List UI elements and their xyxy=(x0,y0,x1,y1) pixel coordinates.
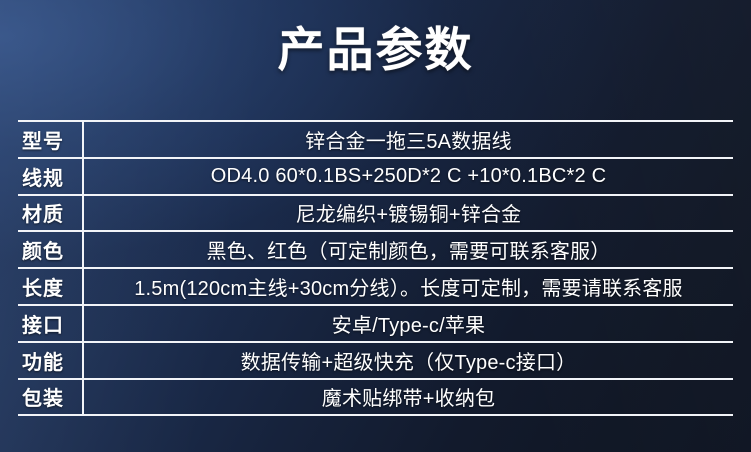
spec-value-interface: 安卓/Type-c/苹果 xyxy=(83,305,733,342)
spec-table: 型号 锌合金一拖三5A数据线 线规 OD4.0 60*0.1BS+250D*2 … xyxy=(18,120,733,416)
spec-label-wire-gauge: 线规 xyxy=(18,158,83,195)
page-title: 产品参数 xyxy=(0,22,751,78)
table-row: 接口 安卓/Type-c/苹果 xyxy=(18,305,733,342)
spec-value-packaging: 魔术贴绑带+收纳包 xyxy=(83,379,733,416)
spec-value-color: 黑色、红色（可定制颜色，需要可联系客服） xyxy=(83,231,733,268)
spec-label-material: 材质 xyxy=(18,195,83,232)
spec-label-model: 型号 xyxy=(18,121,83,158)
spec-value-wire-gauge: OD4.0 60*0.1BS+250D*2 C +10*0.1BC*2 C xyxy=(83,158,733,195)
table-row: 包装 魔术贴绑带+收纳包 xyxy=(18,379,733,416)
product-spec-page: 产品参数 型号 锌合金一拖三5A数据线 线规 OD4.0 60*0.1BS+25… xyxy=(0,0,751,452)
spec-label-interface: 接口 xyxy=(18,305,83,342)
table-row: 长度 1.5m(120cm主线+30cm分线）。长度可定制，需要请联系客服 xyxy=(18,268,733,305)
spec-label-function: 功能 xyxy=(18,342,83,379)
spec-label-color: 颜色 xyxy=(18,231,83,268)
spec-label-length: 长度 xyxy=(18,268,83,305)
table-row: 功能 数据传输+超级快充（仅Type-c接口） xyxy=(18,342,733,379)
spec-table-body: 型号 锌合金一拖三5A数据线 线规 OD4.0 60*0.1BS+250D*2 … xyxy=(18,121,733,415)
table-row: 颜色 黑色、红色（可定制颜色，需要可联系客服） xyxy=(18,231,733,268)
table-row: 线规 OD4.0 60*0.1BS+250D*2 C +10*0.1BC*2 C xyxy=(18,158,733,195)
table-row: 型号 锌合金一拖三5A数据线 xyxy=(18,121,733,158)
spec-value-length: 1.5m(120cm主线+30cm分线）。长度可定制，需要请联系客服 xyxy=(83,268,733,305)
spec-label-packaging: 包装 xyxy=(18,379,83,416)
table-row: 材质 尼龙编织+镀锡铜+锌合金 xyxy=(18,195,733,232)
spec-value-material: 尼龙编织+镀锡铜+锌合金 xyxy=(83,195,733,232)
spec-value-function: 数据传输+超级快充（仅Type-c接口） xyxy=(83,342,733,379)
spec-value-model: 锌合金一拖三5A数据线 xyxy=(83,121,733,158)
